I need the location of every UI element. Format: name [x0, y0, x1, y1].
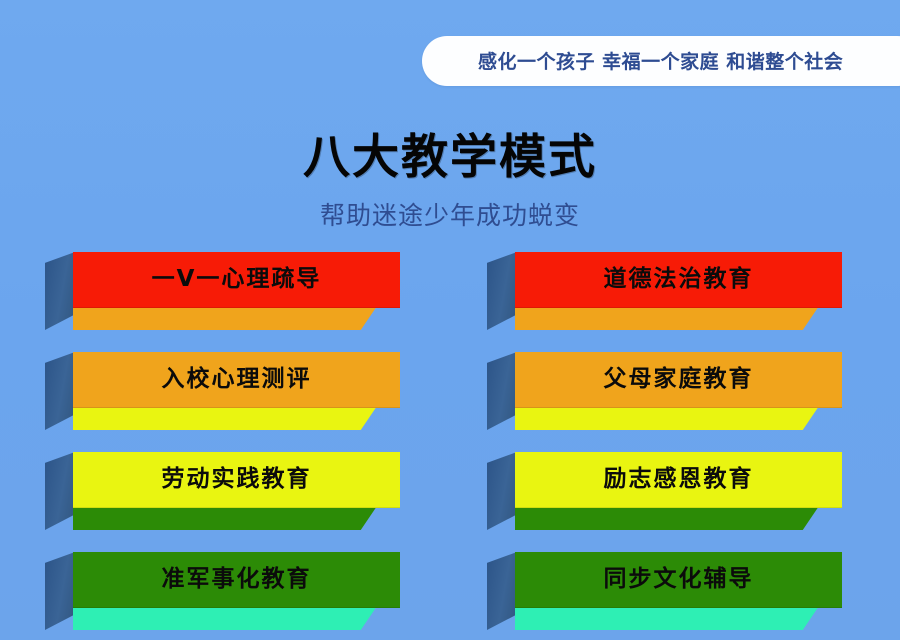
teaching-mode-card[interactable]: 准军事化教育 — [45, 552, 400, 630]
card-top-face: 父母家庭教育 — [515, 352, 842, 408]
teaching-mode-card[interactable]: 劳动实践教育 — [45, 452, 400, 530]
card-side-face — [45, 452, 75, 530]
card-top-face: 劳动实践教育 — [73, 452, 400, 508]
teaching-mode-card[interactable]: 励志感恩教育 — [487, 452, 842, 530]
card-side-face — [487, 552, 517, 630]
teaching-mode-card[interactable]: 一V一心理疏导 — [45, 252, 400, 330]
card-side-face — [487, 252, 517, 330]
poster-canvas: 感化一个孩子 幸福一个家庭 和谐整个社会 八大教学模式 帮助迷途少年成功蜕变 一… — [0, 0, 900, 640]
card-side-face — [45, 352, 75, 430]
card-label: 劳动实践教育 — [162, 468, 312, 493]
card-top-face: 入校心理测评 — [73, 352, 400, 408]
card-top-face: 励志感恩教育 — [515, 452, 842, 508]
card-side-face — [45, 552, 75, 630]
card-side-face — [487, 452, 517, 530]
teaching-mode-card[interactable]: 同步文化辅导 — [487, 552, 842, 630]
card-side-face — [487, 352, 517, 430]
page-subtitle: 帮助迷途少年成功蜕变 — [0, 196, 900, 232]
card-label: 一V一心理疏导 — [152, 268, 322, 293]
page-title: 八大教学模式 — [0, 118, 900, 187]
card-label: 父母家庭教育 — [604, 368, 754, 393]
card-label: 道德法治教育 — [604, 268, 754, 293]
slogan-text: 感化一个孩子 幸福一个家庭 和谐整个社会 — [478, 48, 898, 76]
teaching-mode-card[interactable]: 入校心理测评 — [45, 352, 400, 430]
card-top-face: 准军事化教育 — [73, 552, 400, 608]
card-label: 入校心理测评 — [162, 368, 312, 393]
card-label: 励志感恩教育 — [604, 468, 754, 493]
card-top-face: 一V一心理疏导 — [73, 252, 400, 308]
teaching-mode-card[interactable]: 父母家庭教育 — [487, 352, 842, 430]
card-side-face — [45, 252, 75, 330]
card-top-face: 道德法治教育 — [515, 252, 842, 308]
teaching-mode-card[interactable]: 道德法治教育 — [487, 252, 842, 330]
card-label: 准军事化教育 — [162, 568, 312, 593]
card-label: 同步文化辅导 — [604, 568, 754, 593]
card-top-face: 同步文化辅导 — [515, 552, 842, 608]
